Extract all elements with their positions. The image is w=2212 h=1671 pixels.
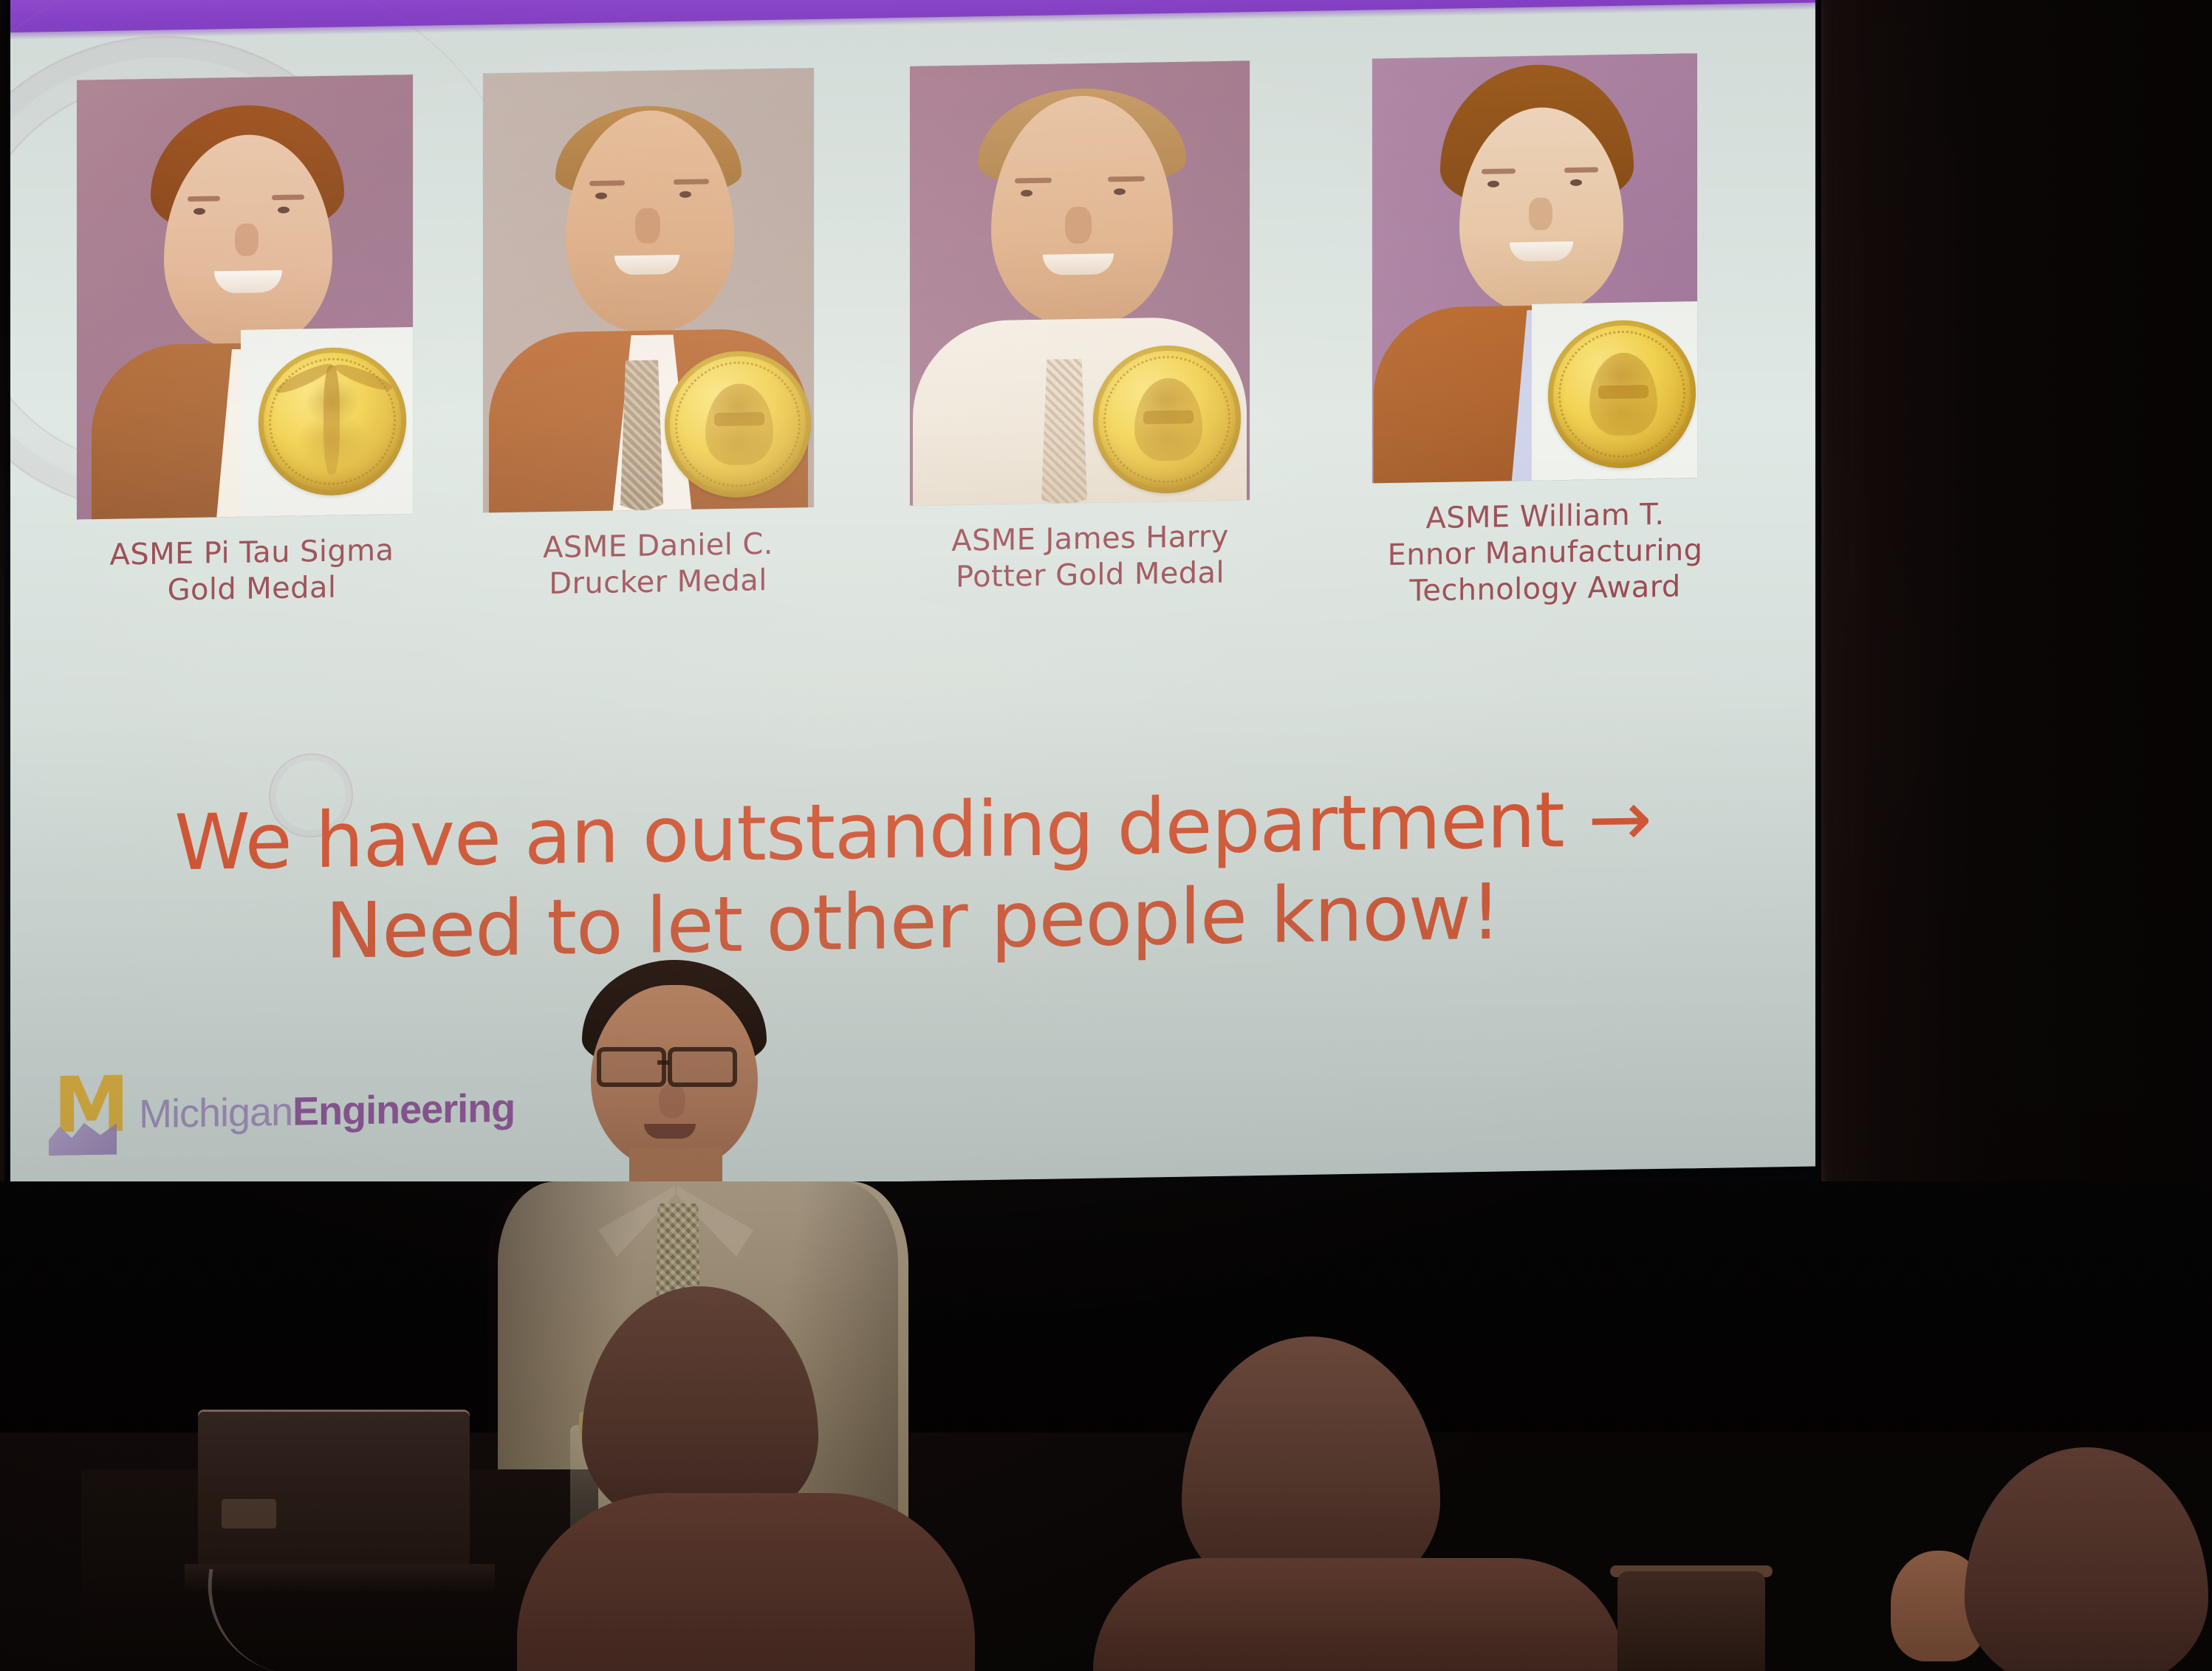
- logo-text-engineering: Engineering: [292, 1086, 515, 1134]
- award-item: ASME William T. Ennor Manufacturing Tech…: [1324, 52, 1767, 484]
- award-item: ASME Daniel C. Drucker Medal: [462, 67, 854, 513]
- presentation-photo: ASME Pi Tau Sigma Gold Medal: [0, 0, 2212, 1671]
- glasses-bridge: [657, 1060, 669, 1065]
- audience-member: [517, 1286, 975, 1671]
- block-m-icon: M: [49, 1075, 120, 1156]
- portrait-photo: [77, 75, 413, 520]
- laptop-badge: [222, 1499, 276, 1528]
- audience-head: [1965, 1447, 2208, 1671]
- award-row: ASME Pi Tau Sigma Gold Medal: [10, 51, 1815, 731]
- award-caption: ASME Pi Tau Sigma Gold Medal: [56, 532, 448, 610]
- portrait-photo: [483, 68, 814, 512]
- audience-member: [1093, 1337, 1625, 1671]
- chair-back: [1617, 1571, 1765, 1671]
- award-caption: ASME Daniel C. Drucker Medal: [462, 525, 854, 603]
- audience-shoulders: [517, 1493, 975, 1671]
- glasses-icon: [668, 1047, 737, 1087]
- logo-text-michigan: Michigan: [139, 1090, 292, 1136]
- audience-shoulders: [1093, 1558, 1625, 1671]
- award-item: ASME James Harry Potter Gold Medal: [883, 60, 1297, 506]
- laptop: [198, 1412, 470, 1568]
- glasses-icon: [597, 1047, 666, 1087]
- right-curtain: [1795, 0, 2212, 1351]
- slide-headline: We have an outstanding department → Need…: [10, 770, 1815, 981]
- portrait-photo: [910, 61, 1250, 506]
- award-caption: ASME William T. Ennor Manufacturing Tech…: [1324, 495, 1767, 611]
- michigan-engineering-logo: M MichiganEngineering: [49, 1068, 515, 1156]
- audience-member: [1920, 1447, 2212, 1671]
- award-item: ASME Pi Tau Sigma Gold Medal: [56, 74, 448, 520]
- presenter-mouth: [644, 1124, 696, 1139]
- presenter-nose: [659, 1084, 685, 1118]
- award-caption: ASME James Harry Potter Gold Medal: [883, 518, 1297, 597]
- logo-wordmark: MichiganEngineering: [139, 1085, 515, 1137]
- portrait-photo: [1372, 53, 1697, 483]
